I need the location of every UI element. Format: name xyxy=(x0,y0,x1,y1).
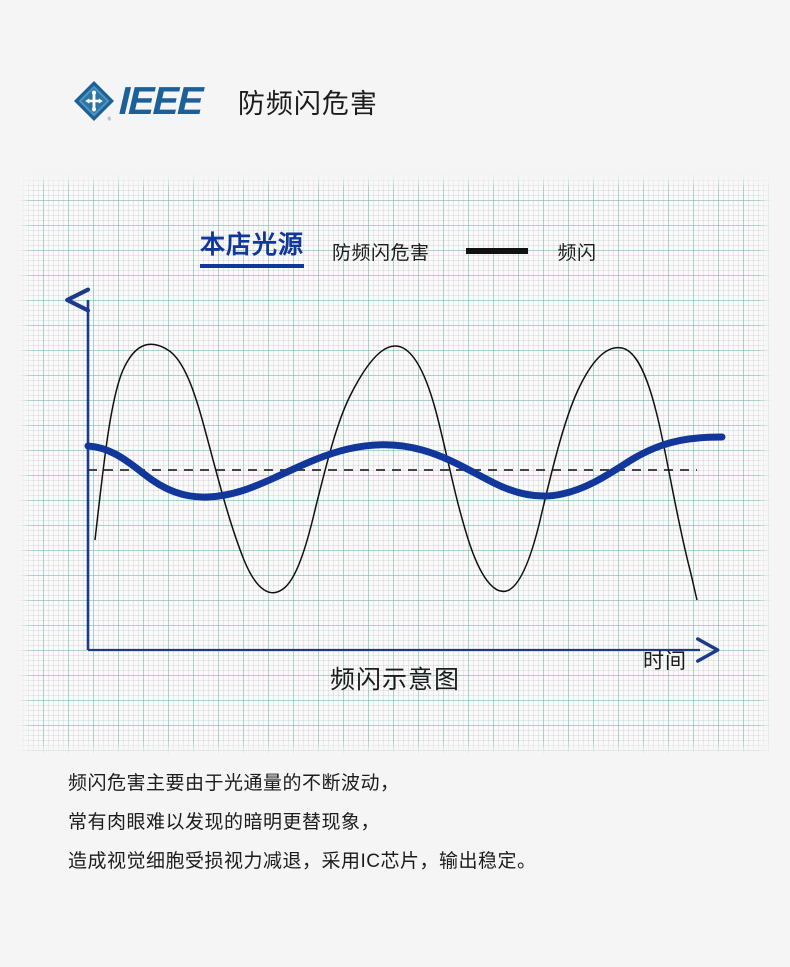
ieee-logo: ® IEEE xyxy=(72,79,202,123)
chart-caption: 频闪示意图 xyxy=(330,660,460,696)
description-line-2: 常有肉眼难以发现的暗明更替现象， xyxy=(68,812,708,834)
legend-primary-label: 本店光源 xyxy=(200,232,304,268)
description-line-3: 造成视觉细胞受损视力减退，采用IC芯片，输出稳定。 xyxy=(68,851,708,873)
legend-secondary-label: 防频闪危害 xyxy=(332,238,430,265)
ieee-diamond-icon: ® xyxy=(72,79,116,123)
page-header: ® IEEE 防频闪危害 xyxy=(72,72,378,130)
description-line-1: 频闪危害主要由于光通量的不断波动， xyxy=(68,773,708,795)
ieee-wordmark: IEEE xyxy=(118,82,202,121)
x-axis-label: 时间 xyxy=(643,645,687,675)
chart-legend: 本店光源 防频闪危害 频闪 xyxy=(200,232,597,268)
legend-series-swatch xyxy=(466,248,528,254)
description-block: 频闪危害主要由于光通量的不断波动， 常有肉眼难以发现的暗明更替现象， 造成视觉细… xyxy=(68,773,708,890)
page-title: 防频闪危害 xyxy=(238,82,378,121)
svg-text:®: ® xyxy=(108,117,112,123)
legend-series-label: 频闪 xyxy=(558,238,597,265)
